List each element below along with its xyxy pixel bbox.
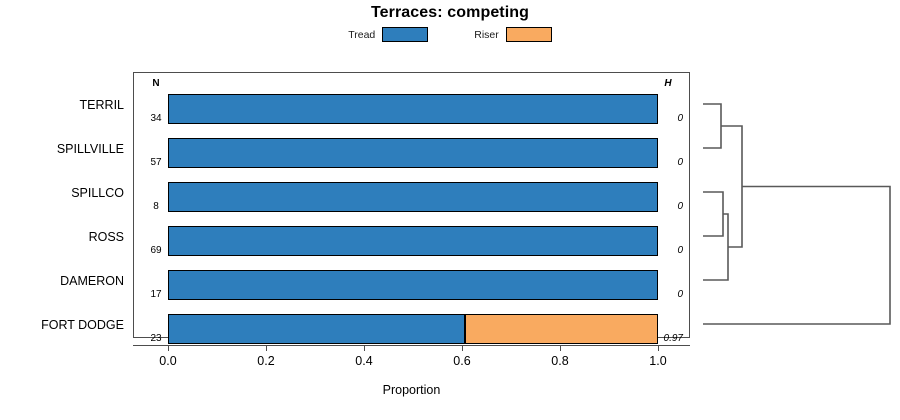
bar-plot-panel: N H 34057080690170230.97 xyxy=(133,72,690,338)
y-axis-label: DAMERON xyxy=(0,274,124,288)
row-n-value: 23 xyxy=(142,333,170,344)
x-tick-label: 0.6 xyxy=(453,354,470,368)
row-n-value: 34 xyxy=(142,113,170,124)
x-tick-label: 0.8 xyxy=(551,354,568,368)
legend-swatch-tread xyxy=(382,27,428,42)
x-tick-label: 0.4 xyxy=(355,354,372,368)
dendro-merge-root xyxy=(703,187,890,325)
bar-segment-tread xyxy=(168,138,658,168)
dendro-merge-upper-lower xyxy=(721,126,742,247)
x-tick-label: 1.0 xyxy=(649,354,666,368)
table-row: 570 xyxy=(134,134,689,178)
row-n-value: 57 xyxy=(142,157,170,168)
stacked-bar xyxy=(169,270,659,300)
column-header-n: N xyxy=(142,78,170,89)
bar-segment-riser xyxy=(465,314,658,344)
x-tick xyxy=(266,345,267,351)
row-h-value: 0 xyxy=(653,201,683,212)
x-tick-label: 0.0 xyxy=(159,354,176,368)
table-row: 230.97 xyxy=(134,310,689,354)
stacked-bar xyxy=(169,182,659,212)
row-h-value: 0 xyxy=(653,245,683,256)
row-h-value: 0.97 xyxy=(653,333,683,344)
bar-segment-tread xyxy=(168,182,658,212)
stacked-bar xyxy=(169,226,659,256)
row-h-value: 0 xyxy=(653,113,683,124)
stacked-bar xyxy=(169,314,659,344)
x-tick xyxy=(462,345,463,351)
legend-swatch-riser xyxy=(506,27,552,42)
chart-title: Terraces: competing xyxy=(0,4,900,22)
dendro-merge-terril-spillville xyxy=(703,104,721,148)
y-axis-label: SPILLCO xyxy=(0,186,124,200)
legend-label-riser: Riser xyxy=(474,29,499,41)
x-tick xyxy=(560,345,561,351)
table-row: 80 xyxy=(134,178,689,222)
column-header-h: H xyxy=(653,78,683,89)
y-axis-label: ROSS xyxy=(0,230,124,244)
table-row: 170 xyxy=(134,266,689,310)
row-h-value: 0 xyxy=(653,289,683,300)
dendro-merge-spillco-ross xyxy=(703,192,723,236)
legend-label-tread: Tread xyxy=(348,29,375,41)
dendrogram xyxy=(694,66,900,346)
y-axis-label: SPILLVILLE xyxy=(0,142,124,156)
y-axis-label: FORT DODGE xyxy=(0,318,124,332)
x-axis-line xyxy=(133,345,690,346)
bar-segment-tread xyxy=(168,270,658,300)
table-row: 690 xyxy=(134,222,689,266)
x-axis-title: Proportion xyxy=(133,383,690,397)
dendro-merge-cluster-dameron xyxy=(703,214,728,280)
bar-segment-tread xyxy=(168,314,465,344)
row-h-value: 0 xyxy=(653,157,683,168)
row-n-value: 69 xyxy=(142,245,170,256)
chart-legend: Tread Riser xyxy=(0,27,900,42)
stacked-bar xyxy=(169,94,659,124)
x-tick xyxy=(168,345,169,351)
x-tick-label: 0.2 xyxy=(257,354,274,368)
y-axis-label: TERRIL xyxy=(0,98,124,112)
row-n-value: 8 xyxy=(142,201,170,212)
row-n-value: 17 xyxy=(142,289,170,300)
x-tick xyxy=(364,345,365,351)
bar-segment-tread xyxy=(168,94,658,124)
legend-entry-tread: Tread xyxy=(348,27,428,42)
legend-entry-riser: Riser xyxy=(474,27,552,42)
table-row: 340 xyxy=(134,90,689,134)
stacked-bar xyxy=(169,138,659,168)
dendrogram-svg xyxy=(694,66,900,346)
chart-root: Terraces: competing Tread Riser TERRILSP… xyxy=(0,0,900,420)
bar-segment-tread xyxy=(168,226,658,256)
x-tick xyxy=(658,345,659,351)
